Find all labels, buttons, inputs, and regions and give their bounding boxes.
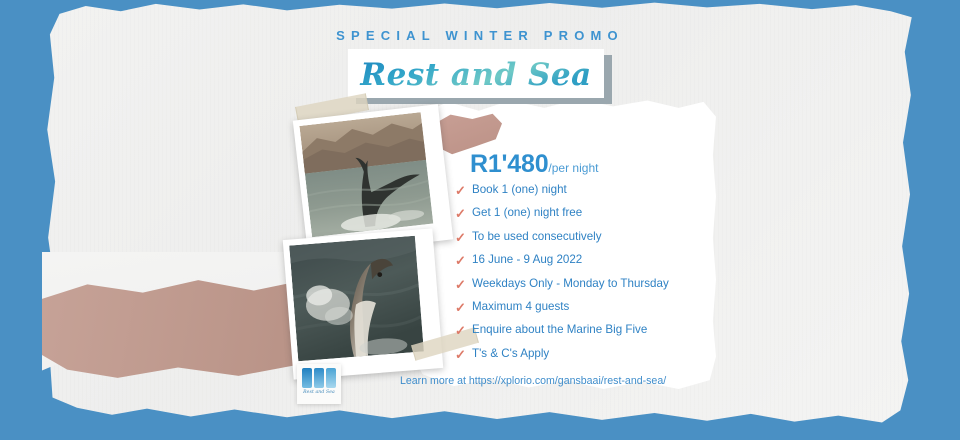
check-icon: ✓ (455, 230, 472, 246)
price-unit: /per night (548, 161, 598, 175)
promo-poster: SPECIAL WINTER PROMO Rest and Sea (0, 0, 960, 440)
list-item-label: T's & C's Apply (472, 346, 549, 362)
list-item-label: 16 June - 9 Aug 2022 (472, 252, 582, 268)
check-icon: ✓ (455, 206, 472, 222)
check-icon: ✓ (455, 323, 472, 339)
check-icon: ✓ (455, 277, 472, 293)
check-icon: ✓ (455, 183, 472, 199)
rose-torn-accent-left (42, 276, 294, 380)
price-line: R1'480/per night (470, 150, 598, 179)
list-item-label: Book 1 (one) night (472, 182, 567, 198)
photo-whale-tail-image (299, 111, 445, 242)
list-item: ✓ T's & C's Apply (455, 346, 725, 369)
list-item-label: Enquire about the Marine Big Five (472, 322, 647, 338)
list-item-label: Weekdays Only - Monday to Thursday (472, 276, 669, 292)
promo-terms-list: ✓ Book 1 (one) night ✓ Get 1 (one) night… (455, 182, 725, 369)
logo-name: Rest and Sea (300, 390, 338, 395)
brand-title-text: Rest and Sea (359, 57, 591, 93)
list-item-label: Maximum 4 guests (472, 299, 569, 315)
title-card: Rest and Sea (348, 49, 604, 98)
list-item: ✓ Book 1 (one) night (455, 182, 725, 205)
logo-bars-icon (300, 368, 338, 388)
price-amount: R1'480 (470, 150, 548, 178)
promo-kicker: SPECIAL WINTER PROMO (0, 28, 960, 43)
list-item: ✓ Get 1 (one) night free (455, 205, 725, 228)
brand-logo: Rest and Sea (297, 364, 341, 404)
list-item: ✓ To be used consecutively (455, 229, 725, 252)
list-item-label: Get 1 (one) night free (472, 205, 582, 221)
list-item: ✓ 16 June - 9 Aug 2022 (455, 252, 725, 275)
list-item-label: To be used consecutively (472, 229, 602, 245)
check-icon: ✓ (455, 347, 472, 363)
check-icon: ✓ (455, 253, 472, 269)
list-item: ✓ Maximum 4 guests (455, 299, 725, 322)
brand-title-script: Rest and Sea (348, 49, 604, 98)
check-icon: ✓ (455, 300, 472, 316)
list-item: ✓ Enquire about the Marine Big Five (455, 322, 725, 345)
learn-more-note[interactable]: Learn more at https://xplorio.com/gansba… (400, 375, 720, 387)
list-item: ✓ Weekdays Only - Monday to Thursday (455, 276, 725, 299)
